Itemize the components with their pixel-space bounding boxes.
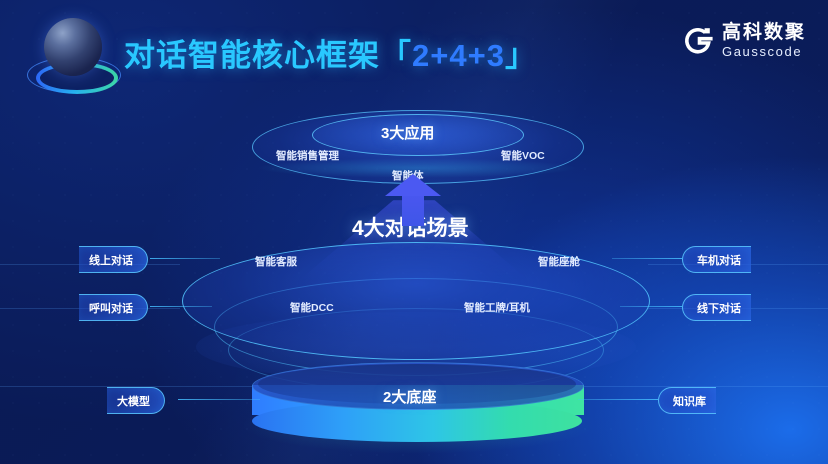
pill-right-label-0: 车机对话 [697, 252, 741, 268]
scenario-label-1: 智能座舱 [538, 254, 580, 269]
arrow-head [385, 174, 441, 196]
connector-left-0 [150, 258, 220, 259]
arrow-shaft [402, 192, 424, 226]
orb-sphere [44, 18, 102, 76]
pill-right-label-1: 线下对话 [697, 300, 741, 316]
upward-arrow-icon [385, 174, 441, 226]
scenario-label-2: 智能DCC [290, 300, 334, 315]
connector-right-0 [612, 258, 682, 259]
connector-left-1 [150, 306, 212, 307]
pill-left-label-0: 线上对话 [89, 252, 133, 268]
brand-wordmark: 高科数聚 Gausscode [722, 23, 806, 58]
foundation-heading: 2大底座 [383, 386, 436, 407]
page-title-end: 」 [505, 38, 537, 73]
page-title-number: 2+4+3 [412, 38, 505, 73]
application-label-1: 智能VOC [501, 148, 545, 163]
pill-right-knowledge-base[interactable]: 知识库 [658, 387, 716, 414]
framework-diagram: 4大对话场景 智能客服 智能座舱 智能DCC 智能工牌/耳机 3大应用 智能销售… [0, 96, 828, 464]
pill-right-offline-dialog[interactable]: 线下对话 [682, 294, 751, 321]
gausscode-g-mark-icon [683, 25, 713, 55]
application-label-0: 智能销售管理 [276, 148, 339, 163]
sphere-orb-icon [27, 16, 119, 104]
page-title: 对话智能核心框架「2+4+3」 [124, 30, 537, 75]
page-title-main: 对话智能核心框架「 [124, 38, 412, 73]
pill-left-call-dialog[interactable]: 呼叫对话 [79, 294, 148, 321]
connector-right-1 [620, 306, 682, 307]
brand-name-en: Gausscode [722, 45, 806, 58]
pill-left-online-dialog[interactable]: 线上对话 [79, 246, 148, 273]
connector-right-2 [578, 399, 658, 400]
applications-heading: 3大应用 [381, 122, 434, 143]
slide-header: 对话智能核心框架「2+4+3」 高科数聚 Gausscode [0, 0, 828, 104]
pill-right-label-2: 知识库 [673, 393, 706, 409]
pill-left-label-2: 大模型 [117, 393, 150, 409]
pill-right-in-car-dialog[interactable]: 车机对话 [682, 246, 751, 273]
slide-canvas: 对话智能核心框架「2+4+3」 高科数聚 Gausscode [0, 0, 828, 464]
brand-name-cn: 高科数聚 [722, 23, 806, 42]
connector-left-2 [178, 399, 260, 400]
pill-left-large-model[interactable]: 大模型 [107, 387, 165, 414]
brand-logo: 高科数聚 Gausscode [683, 16, 806, 64]
pill-left-label-1: 呼叫对话 [89, 300, 133, 316]
scenario-label-0: 智能客服 [255, 254, 297, 269]
scenario-label-3: 智能工牌/耳机 [464, 300, 530, 315]
